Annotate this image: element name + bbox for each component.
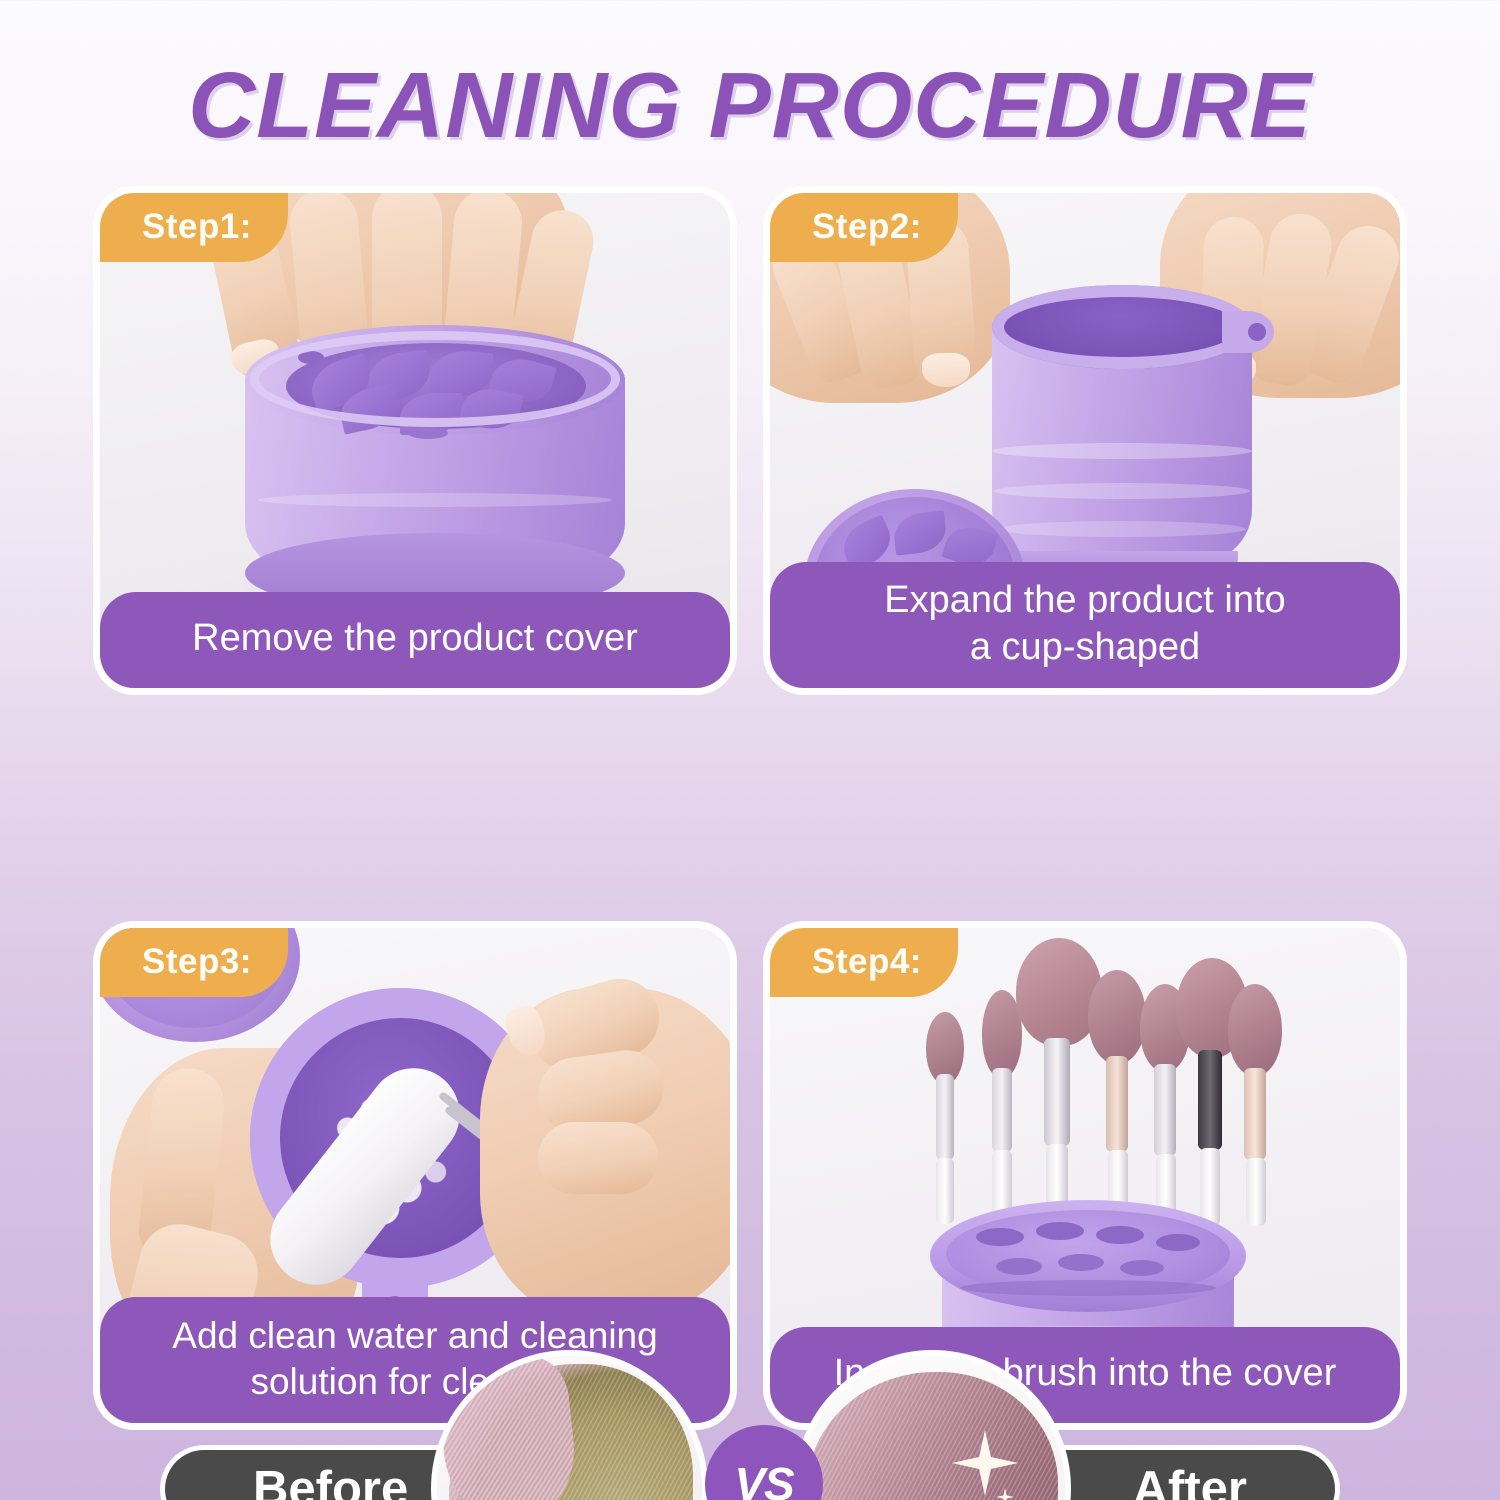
step-2-caption: Expand the product into a cup-shaped [770, 562, 1400, 688]
before-label: Before [253, 1461, 408, 1500]
after-label: After [1133, 1461, 1247, 1500]
step-card-1: Step1: Remove the product cover [100, 193, 730, 688]
before-after-comparison: Before After VS [0, 690, 1500, 930]
after-image-clean-brush [800, 1356, 1065, 1500]
vs-label: VS [734, 1457, 793, 1500]
step-4-badge: Step4: [770, 928, 958, 997]
step-card-4: Step4: Insert the brush into the cover [770, 928, 1400, 1423]
step-3-badge: Step3: [100, 928, 288, 997]
step-1-caption: Remove the product cover [100, 592, 730, 688]
page-title: CLEANING PROCEDURE [0, 52, 1500, 159]
step-card-2: Step2: Expand the product into a cup-sha… [770, 193, 1400, 688]
step-2-badge: Step2: [770, 193, 958, 262]
step-1-badge: Step1: [100, 193, 288, 262]
step-2-caption-line-2: a cup-shaped [970, 624, 1200, 671]
step-card-3: Step3: Add clean water and cleaning solu… [100, 928, 730, 1423]
step-1-caption-line-1: Remove the product cover [192, 615, 638, 662]
before-image-dirty-brush [437, 1356, 702, 1500]
step-2-caption-line-1: Expand the product into [884, 577, 1285, 624]
page-title-text: CLEANING PROCEDURE [0, 52, 1500, 159]
step-3-caption-line-1: Add clean water and cleaning [172, 1313, 657, 1359]
